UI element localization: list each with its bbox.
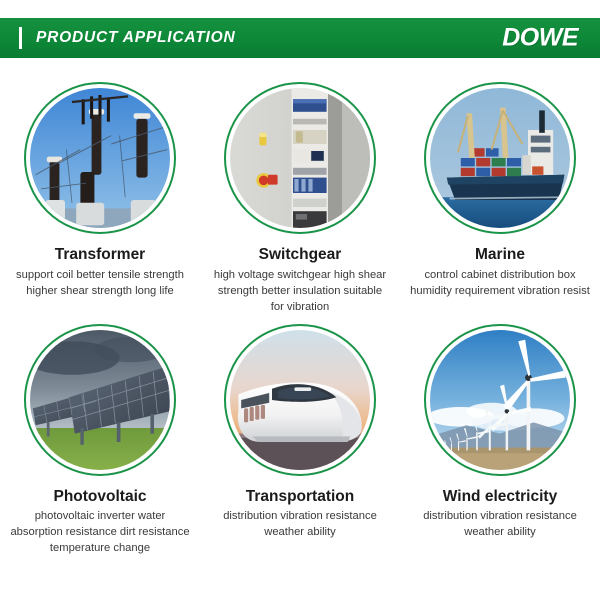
card-marine[interactable]: Marine control cabinet distribution box … [400,72,600,316]
card-title: Photovoltaic [53,488,146,506]
solar-panel-farm-photo-icon [30,330,170,470]
header-bar: PRODUCT APPLICATION DOWE [0,18,600,58]
card-transformer[interactable]: Transformer support coil better tensile … [0,72,200,316]
card-description: photovoltaic inverter water absorption r… [10,509,190,557]
application-grid: Transformer support coil better tensile … [0,72,600,557]
header-accent-bar [19,27,22,49]
transportation-image-frame [224,324,376,476]
card-title: Transportation [246,488,355,506]
card-photovoltaic[interactable]: Photovoltaic photovoltaic inverter water… [0,316,200,558]
card-description: control cabinet distribution box humidit… [410,268,590,300]
photovoltaic-image-frame [24,324,176,476]
page-title: PRODUCT APPLICATION [36,29,235,47]
transformer-image-frame [24,82,176,234]
card-title: Wind electricity [443,488,557,506]
transformer-substation-photo-icon [30,88,170,228]
brand-logo: DOWE [502,24,578,53]
switchgear-image-frame [224,82,376,234]
switchgear-cabinet-photo-icon [230,88,370,228]
wind-electricity-image-frame [424,324,576,476]
card-title: Transformer [55,246,145,264]
card-switchgear[interactable]: Switchgear high voltage switchgear high … [200,72,400,316]
card-description: support coil better tensile strength hig… [10,268,190,300]
container-ship-photo-icon [430,88,570,228]
wind-turbine-farm-photo-icon [430,330,570,470]
card-description: distribution vibration resistance weathe… [410,509,590,541]
product-application-page: PRODUCT APPLICATION DOWE [0,0,600,600]
card-transportation[interactable]: Transportation distribution vibration re… [200,316,400,558]
card-title: Switchgear [259,246,342,264]
card-description: distribution vibration resistance weathe… [210,509,390,541]
marine-image-frame [424,82,576,234]
card-wind-electricity[interactable]: Wind electricity distribution vibration … [400,316,600,558]
card-description: high voltage switchgear high shear stren… [210,268,390,316]
high-speed-train-photo-icon [230,330,370,470]
card-title: Marine [475,246,525,264]
